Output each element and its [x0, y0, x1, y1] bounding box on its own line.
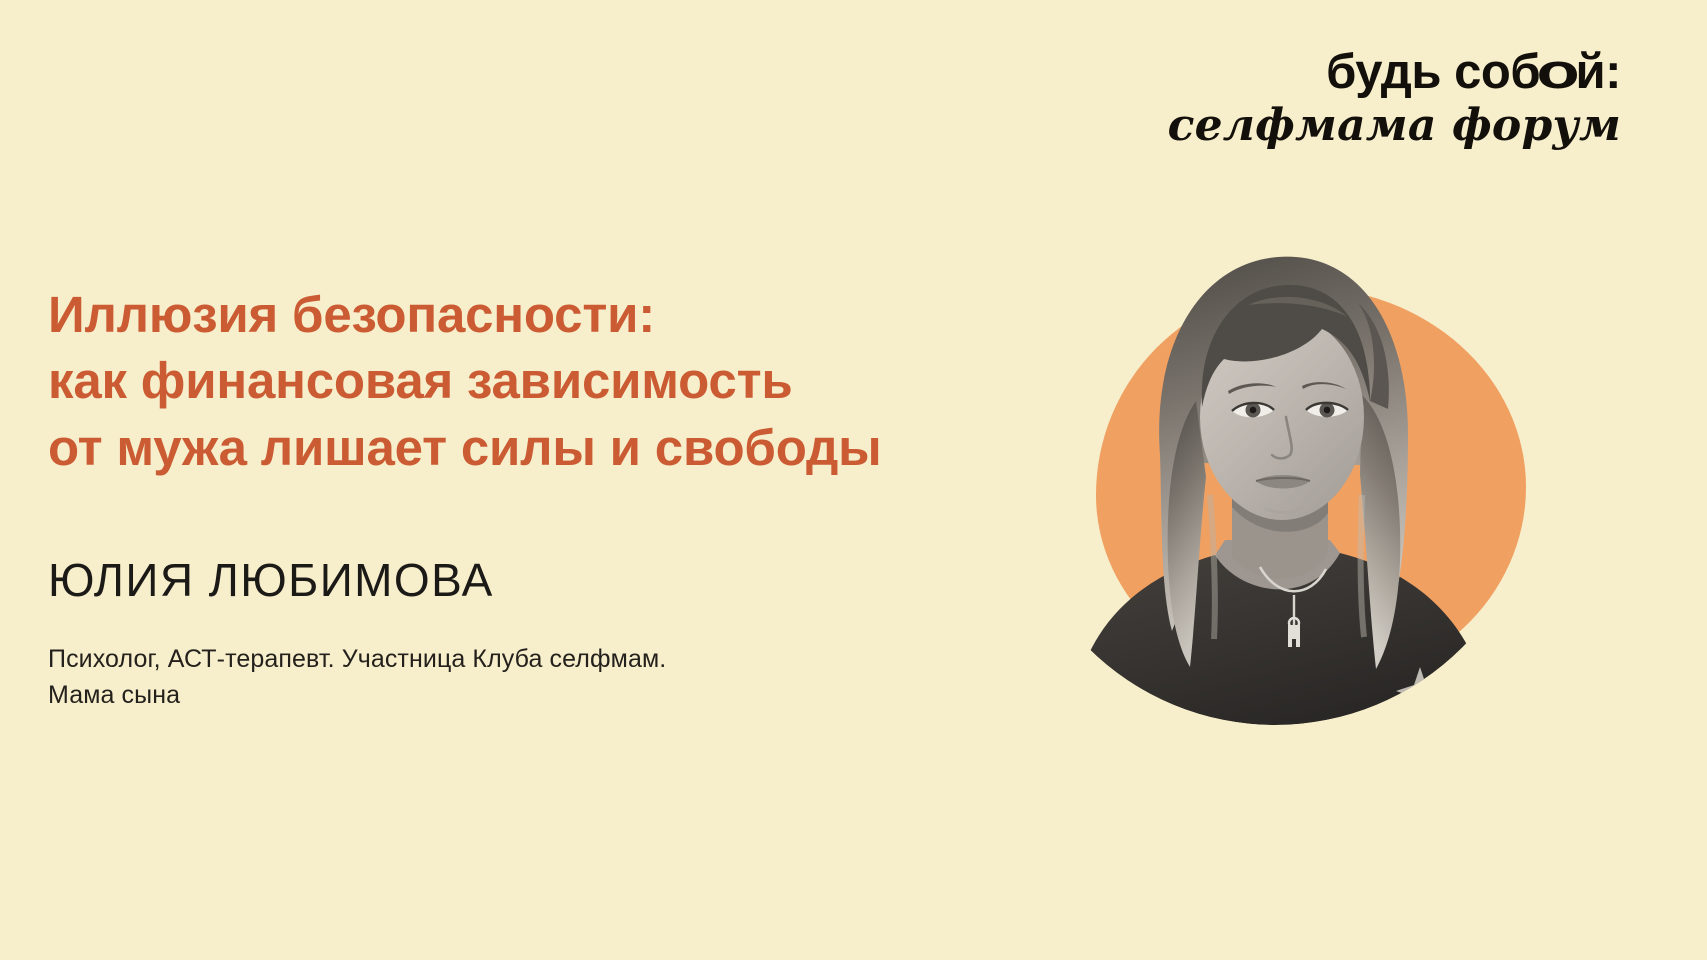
forum-logo: будь собой: селфмама форум: [1168, 48, 1621, 148]
logo-subtitle: селфмама форум: [1168, 104, 1621, 148]
speaker-bio: Психолог, АСТ-терапевт. Участница Клуба …: [48, 642, 666, 713]
talk-title-line-2: как финансовая зависимость: [48, 348, 1008, 414]
speaker-portrait-area: [1010, 195, 1570, 765]
logo-title-part1: будь соб: [1326, 45, 1540, 99]
speaker-bio-line-1: Психолог, АСТ-терапевт. Участница Клуба …: [48, 642, 666, 678]
speaker-name: ЮЛИЯ ЛЮБИМОВА: [48, 557, 494, 603]
talk-title: Иллюзия безопасности: как финансовая зав…: [48, 282, 1008, 481]
speaker-slide: будь собой: селфмама форум Иллюзия безоп…: [0, 0, 1707, 960]
speaker-bio-line-2: Мама сына: [48, 678, 666, 714]
logo-title: будь собой:: [1168, 48, 1621, 97]
speaker-photo-illustration: [1010, 195, 1540, 725]
slide-content: Иллюзия безопасности: как финансовая зав…: [48, 282, 1008, 481]
talk-title-line-1: Иллюзия безопасности:: [48, 282, 1008, 348]
logo-title-part2: й:: [1576, 45, 1621, 99]
logo-wide-o-glyph: о: [1536, 48, 1579, 97]
speaker-photo: [1010, 195, 1540, 725]
talk-title-line-3: от мужа лишает силы и свободы: [48, 415, 1008, 481]
